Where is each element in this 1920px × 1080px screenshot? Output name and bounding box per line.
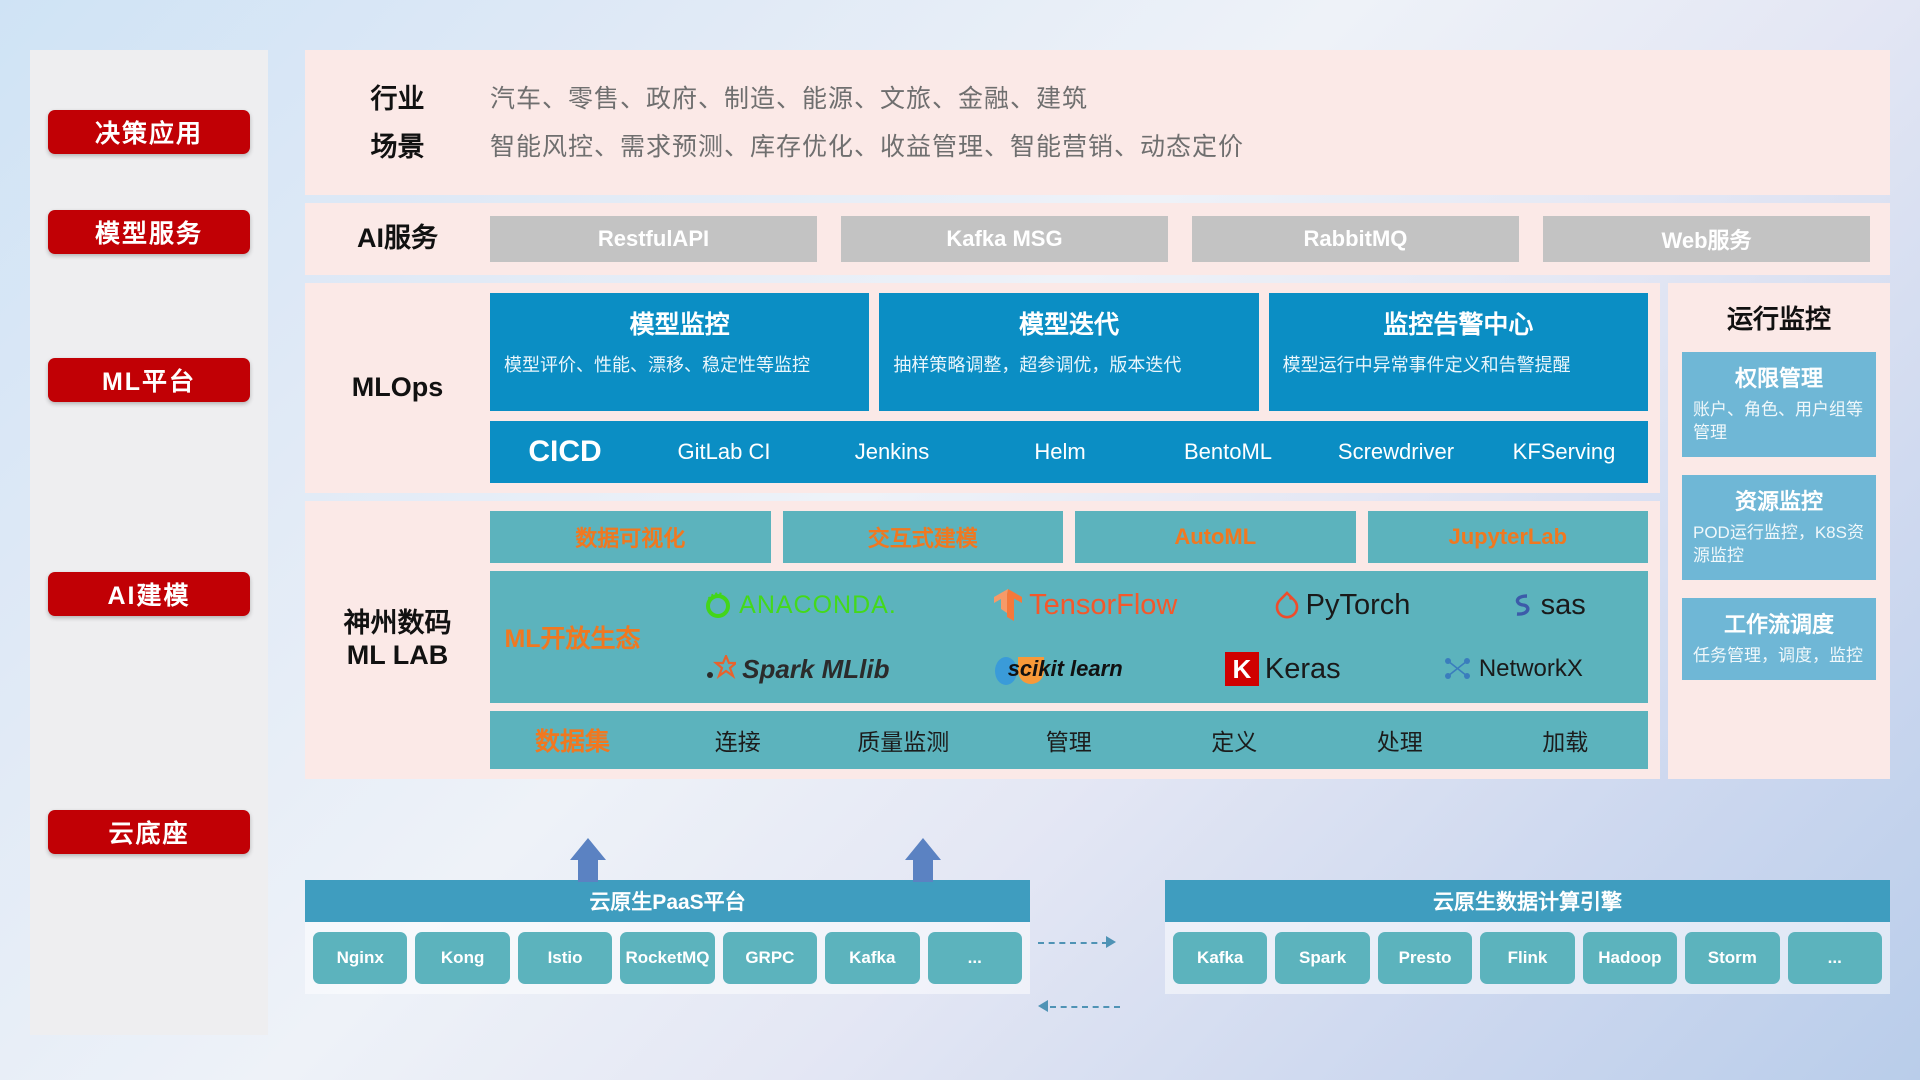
ai-service-chip-web-service[interactable]: Web服务 (1543, 216, 1870, 262)
run-monitor-title: 运行监控 (1682, 299, 1876, 336)
dataset-item-process[interactable]: 处理 (1317, 723, 1483, 757)
chip-label: Kafka MSG (946, 226, 1062, 252)
tensorflow-label: TensorFlow (1029, 589, 1177, 622)
cloud-paas-column: 云原生PaaS平台 Nginx Kong Istio RocketMQ GRPC… (305, 880, 1030, 1040)
chip-label: Web服务 (1661, 223, 1751, 255)
card-title: 模型监控 (504, 305, 855, 341)
compute-up-arrow (570, 838, 606, 882)
tool-chip-automl[interactable]: AutoML (1075, 511, 1356, 563)
ml-open-ecosystem: ML开放生态 ANACONDA. (490, 571, 1648, 703)
paas-chip-rocketmq[interactable]: RocketMQ (620, 932, 714, 984)
eco-label: ML开放生态 (490, 619, 655, 655)
compute-chip-spark[interactable]: Spark (1275, 932, 1369, 984)
mlops-card-alert-center[interactable]: 监控告警中心 模型运行中异常事件定义和告警提醒 (1269, 293, 1648, 411)
decision-row-scenario: 场景 智能风控、需求预测、库存优化、收益管理、智能营销、动态定价 (305, 125, 1890, 164)
pytorch-label: PyTorch (1306, 589, 1411, 622)
card-title: 监控告警中心 (1283, 305, 1634, 341)
chip-label: Spark (1299, 949, 1346, 968)
compute-chip-presto[interactable]: Presto (1378, 932, 1472, 984)
mlops-card-model-monitoring[interactable]: 模型监控 模型评价、性能、漂移、稳定性等监控 (490, 293, 869, 411)
chip-label: RabbitMQ (1304, 226, 1408, 252)
pytorch-logo: PyTorch (1274, 589, 1411, 622)
cloud-compute-column: 云原生数据计算引擎 Kafka Spark Presto Flink Hadoo… (1165, 880, 1890, 1040)
paas-chip-nginx[interactable]: Nginx (313, 932, 407, 984)
cloud-exchange-arrows (1030, 880, 1165, 1040)
chip-label: Kafka (1197, 949, 1243, 968)
cicd-item-jenkins[interactable]: Jenkins (808, 440, 976, 464)
tool-chip-data-visualization[interactable]: 数据可视化 (490, 511, 771, 563)
rail-badge-cloud-base[interactable]: 云底座 (48, 810, 250, 854)
monitor-card-permission[interactable]: 权限管理 账户、角色、用户组等管理 (1682, 352, 1876, 457)
chip-label: ... (968, 949, 982, 968)
networkx-logo: NetworkX (1443, 655, 1583, 683)
chip-label: RestfulAPI (598, 226, 709, 252)
keras-icon: K (1225, 652, 1259, 686)
paas-chip-kafka[interactable]: Kafka (825, 932, 919, 984)
chip-label: Nginx (337, 949, 384, 968)
rail-badge-ml-platform[interactable]: ML平台 (48, 358, 250, 402)
anaconda-icon (703, 590, 733, 620)
ml-lab-label-line1: 神州数码 (305, 608, 490, 640)
chip-label: Istio (548, 949, 583, 968)
chip-label: 数据可视化 (575, 521, 685, 553)
tool-chip-interactive-modeling[interactable]: 交互式建模 (783, 511, 1064, 563)
chip-label: AutoML (1174, 524, 1256, 550)
decision-row-key: 行业 (305, 77, 490, 116)
monitor-card-workflow[interactable]: 工作流调度 任务管理，调度，监控 (1682, 598, 1876, 680)
cicd-item-kfserving[interactable]: KFServing (1480, 440, 1648, 464)
dataset-item-define[interactable]: 定义 (1152, 723, 1318, 757)
rail-badge-ai-modeling[interactable]: AI建模 (48, 572, 250, 616)
left-stage-rail: 决策应用 模型服务 ML平台 AI建模 云底座 (30, 50, 268, 1035)
band-mlops: MLOps 模型监控 模型评价、性能、漂移、稳定性等监控 模型迭代 抽样策略调整… (305, 283, 1660, 493)
dataset-item-quality[interactable]: 质量监测 (821, 723, 987, 757)
decision-row-key: 场景 (305, 125, 490, 164)
mlops-label: MLOps (305, 372, 490, 404)
ai-service-chip-rabbitmq[interactable]: RabbitMQ (1192, 216, 1519, 262)
architecture-stack: 行业 汽车、零售、政府、制造、能源、文旅、金融、建筑 场景 智能风控、需求预测、… (305, 50, 1890, 779)
card-title: 权限管理 (1693, 361, 1865, 393)
chip-label: Presto (1399, 949, 1452, 968)
rail-badge-label: 模型服务 (95, 214, 203, 250)
paas-up-arrow (905, 838, 941, 882)
ai-service-label: AI服务 (305, 223, 490, 255)
arrow-right-head (1106, 936, 1116, 948)
cicd-bar: CICD GitLab CI Jenkins Helm BentoML Scre… (490, 421, 1648, 483)
monitor-card-resource[interactable]: 资源监控 POD运行监控，K8S资源监控 (1682, 475, 1876, 580)
band-ai-modeling: 神州数码 ML LAB 数据可视化 交互式建模 AutoML JupyterLa… (305, 501, 1660, 779)
card-desc: 模型评价、性能、漂移、稳定性等监控 (504, 353, 855, 378)
dataset-item-connect[interactable]: 连接 (655, 723, 821, 757)
rail-badge-label: 云底座 (108, 814, 189, 850)
card-desc: POD运行监控，K8S资源监控 (1693, 522, 1865, 568)
cicd-item-screwdriver[interactable]: Screwdriver (1312, 440, 1480, 464)
dataset-item-load[interactable]: 加载 (1483, 723, 1649, 757)
rail-badge-label: ML平台 (102, 362, 196, 398)
sas-icon (1507, 590, 1535, 620)
paas-title: 云原生PaaS平台 (305, 880, 1030, 922)
pytorch-icon (1274, 590, 1300, 620)
rail-badge-label: AI建模 (107, 576, 190, 612)
dataset-item-manage[interactable]: 管理 (986, 723, 1152, 757)
compute-chip-storm[interactable]: Storm (1685, 932, 1779, 984)
card-title: 模型迭代 (893, 305, 1244, 341)
compute-title: 云原生数据计算引擎 (1165, 880, 1890, 922)
band-ai-service: AI服务 RestfulAPI Kafka MSG RabbitMQ Web服务 (305, 203, 1890, 275)
tensorflow-logo: TensorFlow (993, 588, 1177, 622)
spark-mllib-label: Spark MLlib (742, 654, 889, 685)
cicd-item-bentoml[interactable]: BentoML (1144, 440, 1312, 464)
arrow-left-dashed (1050, 1006, 1120, 1008)
arrow-left-head (1038, 1000, 1048, 1012)
chip-label: JupyterLab (1448, 524, 1567, 550)
decision-row-value: 智能风控、需求预测、库存优化、收益管理、智能营销、动态定价 (490, 127, 1244, 163)
decision-row-value: 汽车、零售、政府、制造、能源、文旅、金融、建筑 (490, 79, 1088, 115)
networkx-icon (1443, 655, 1473, 683)
card-desc: 模型运行中异常事件定义和告警提醒 (1283, 353, 1634, 378)
rail-badge-model-service[interactable]: 模型服务 (48, 210, 250, 254)
spark-star-icon (706, 655, 736, 683)
keras-label: Keras (1265, 653, 1341, 686)
chip-label: Kafka (849, 949, 895, 968)
card-title: 工作流调度 (1693, 607, 1865, 639)
spark-mllib-logo: Spark MLlib (706, 654, 889, 685)
arrow-right-dashed (1038, 942, 1108, 944)
ai-service-chip-restfulapi[interactable]: RestfulAPI (490, 216, 817, 262)
paas-chip-more[interactable]: ... (928, 932, 1022, 984)
sas-label: sas (1541, 589, 1586, 622)
paas-chip-grpc[interactable]: GRPC (723, 932, 817, 984)
tensorflow-icon (993, 588, 1023, 622)
chip-label: 交互式建模 (868, 521, 978, 553)
chip-label: ... (1828, 949, 1842, 968)
rail-badge-decision-apps[interactable]: 决策应用 (48, 110, 250, 154)
chip-label: Flink (1508, 949, 1548, 968)
anaconda-label: ANACONDA. (739, 591, 897, 620)
ml-lab-label: 神州数码 ML LAB (305, 608, 490, 672)
chip-label: GRPC (745, 949, 794, 968)
ml-lab-label-line2: ML LAB (305, 640, 490, 672)
card-desc: 账户、角色、用户组等管理 (1693, 399, 1865, 445)
compute-chip-more[interactable]: ... (1788, 932, 1882, 984)
rail-badge-label: 决策应用 (95, 114, 203, 150)
scikit-learn-label: scikit learn (1008, 656, 1123, 682)
cicd-title: CICD (490, 435, 640, 469)
chip-label: RocketMQ (625, 949, 709, 968)
decision-row-industry: 行业 汽车、零售、政府、制造、能源、文旅、金融、建筑 (305, 77, 1890, 116)
dataset-title: 数据集 (490, 722, 655, 758)
card-title: 资源监控 (1693, 484, 1865, 516)
paas-chip-kong[interactable]: Kong (415, 932, 509, 984)
cicd-item-gitlab-ci[interactable]: GitLab CI (640, 440, 808, 464)
ai-service-chip-kafka-msg[interactable]: Kafka MSG (841, 216, 1168, 262)
dataset-bar: 数据集 连接 质量监测 管理 定义 处理 加载 (490, 711, 1648, 769)
compute-chip-kafka[interactable]: Kafka (1173, 932, 1267, 984)
cicd-item-helm[interactable]: Helm (976, 440, 1144, 464)
band-decision-applications: 行业 汽车、零售、政府、制造、能源、文旅、金融、建筑 场景 智能风控、需求预测、… (305, 50, 1890, 195)
compute-chip-flink[interactable]: Flink (1480, 932, 1574, 984)
anaconda-logo: ANACONDA. (703, 590, 897, 620)
tool-chip-jupyterlab[interactable]: JupyterLab (1368, 511, 1649, 563)
keras-logo: K Keras (1225, 652, 1341, 686)
mlops-card-model-iteration[interactable]: 模型迭代 抽样策略调整，超参调优，版本迭代 (879, 293, 1258, 411)
networkx-label: NetworkX (1479, 655, 1583, 683)
scikit-learn-logo: scikit learn (992, 652, 1123, 686)
card-desc: 任务管理，调度，监控 (1693, 645, 1865, 668)
panel-run-monitor: 运行监控 权限管理 账户、角色、用户组等管理 资源监控 POD运行监控，K8S资… (1668, 283, 1890, 779)
cloud-foundation: 云原生PaaS平台 Nginx Kong Istio RocketMQ GRPC… (305, 880, 1890, 1040)
paas-chip-istio[interactable]: Istio (518, 932, 612, 984)
card-desc: 抽样策略调整，超参调优，版本迭代 (893, 353, 1244, 378)
chip-label: Kong (441, 949, 484, 968)
compute-chip-hadoop[interactable]: Hadoop (1583, 932, 1677, 984)
sas-logo: sas (1507, 589, 1586, 622)
platform-and-monitor-region: MLOps 模型监控 模型评价、性能、漂移、稳定性等监控 模型迭代 抽样策略调整… (305, 283, 1890, 779)
chip-label: Hadoop (1598, 949, 1661, 968)
chip-label: Storm (1708, 949, 1757, 968)
